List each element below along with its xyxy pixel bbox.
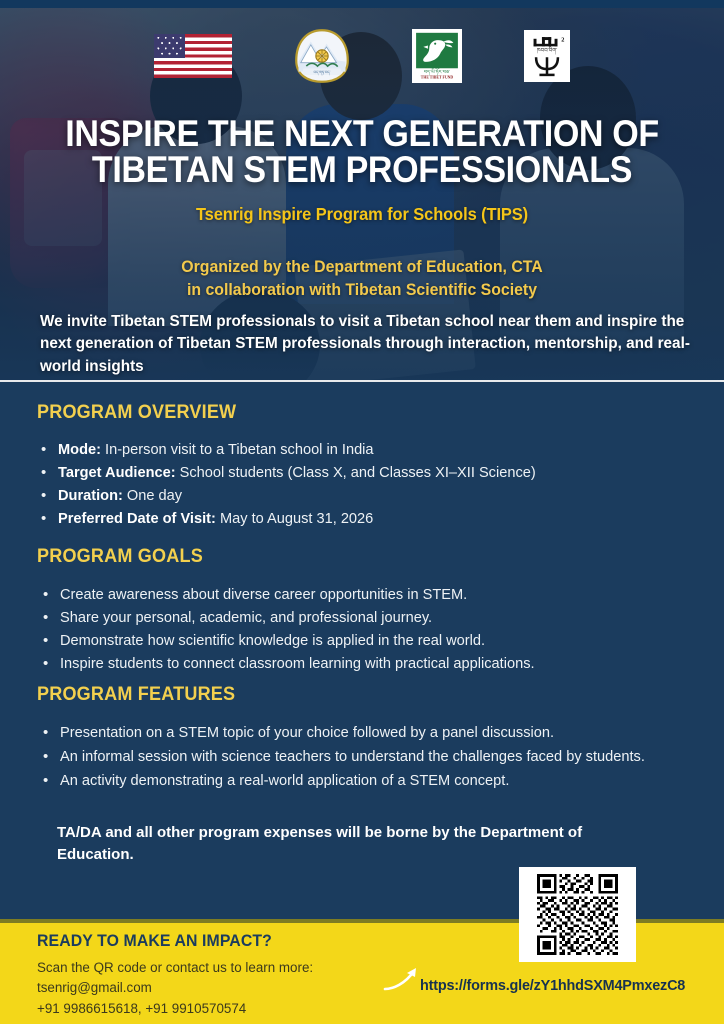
program-subtitle: Tsenrig Inspire Program for Schools (TIP…	[22, 204, 703, 225]
overview-list: Mode: In-person visit to a Tibetan schoo…	[37, 440, 697, 531]
body-section: PROGRAM OVERVIEW Mode: In-person visit t…	[0, 382, 724, 922]
arrow-icon	[383, 962, 423, 992]
contact-email[interactable]: tsenrig@gmail.com	[37, 978, 313, 998]
poster-root: བད་གཏ་བད་ བད་ཡི་ཏོར་བཅ་ THE TIBET FUND	[0, 0, 724, 1024]
list-item: An activity demonstrating a real-world a…	[37, 771, 697, 793]
list-item: Share your personal, academic, and profe…	[37, 608, 697, 630]
qr-code[interactable]	[519, 867, 636, 962]
cta-emblem-logo: བད་གཏ་བད་	[294, 28, 350, 84]
list-item: Target Audience: School students (Class …	[37, 463, 697, 485]
headline-line-2: TIBETAN STEM PROFESSIONALS	[29, 152, 695, 188]
overview-item-label: Preferred Date of Visit:	[58, 511, 216, 527]
contact-phones: +91 9986615618, +91 9910570574	[37, 999, 313, 1019]
organizer-block: Organized by the Department of Education…	[14, 256, 709, 303]
expenses-note: TA/DA and all other program expenses wil…	[57, 822, 657, 866]
overview-item-text: May to August 31, 2026	[216, 511, 373, 527]
list-item: Mode: In-person visit to a Tibetan schoo…	[37, 440, 697, 462]
list-item: Demonstrate how scientific knowledge is …	[37, 631, 697, 653]
overview-item-text: One day	[123, 488, 182, 504]
organizer-line-1: Organized by the Department of Education…	[14, 256, 709, 279]
features-list: Presentation on a STEM topic of your cho…	[37, 723, 697, 793]
footer-contact-block: Scan the QR code or contact us to learn …	[37, 958, 313, 1019]
goals-heading: PROGRAM GOALS	[37, 546, 664, 568]
hero-section: བད་གཏ་བད་ བད་ཡི་ཏོར་བཅ་ THE TIBET FUND	[0, 8, 724, 380]
hero-divider	[0, 380, 724, 382]
program-goals-block: PROGRAM GOALS Create awareness about div…	[37, 546, 697, 677]
list-item: An informal session with science teacher…	[37, 747, 697, 769]
us-flag-logo	[154, 34, 232, 78]
footer-heading: READY TO MAKE AN IMPACT?	[37, 932, 272, 951]
list-item: Preferred Date of Visit: May to August 3…	[37, 509, 697, 531]
qr-code-image	[526, 874, 629, 955]
tibet-fund-logo: བད་ཡི་ཏོར་བཅ་ THE TIBET FUND	[412, 29, 462, 83]
list-item: Create awareness about diverse career op…	[37, 585, 697, 607]
invitation-text: We invite Tibetan STEM professionals to …	[40, 311, 690, 378]
features-heading: PROGRAM FEATURES	[37, 684, 664, 706]
footer-instruction: Scan the QR code or contact us to learn …	[37, 958, 313, 978]
program-overview-block: PROGRAM OVERVIEW Mode: In-person visit t…	[37, 402, 697, 532]
top-accent-bar	[0, 0, 724, 8]
overview-item-text: In-person visit to a Tibetan school in I…	[101, 442, 374, 458]
partner-logo-row: བད་གཏ་བད་ བད་ཡི་ཏོར་བཅ་ THE TIBET FUND	[0, 28, 724, 84]
organizer-line-2: in collaboration with Tibetan Scientific…	[14, 279, 709, 302]
tibetan-scientific-society-logo: 2 ཁབབ་བིག་	[524, 30, 570, 82]
svg-text:THE TIBET FUND: THE TIBET FUND	[421, 76, 454, 80]
list-item: Duration: One day	[37, 486, 697, 508]
program-features-block: PROGRAM FEATURES Presentation on a STEM …	[37, 684, 697, 795]
svg-text:2: 2	[561, 36, 564, 43]
headline-line-1: INSPIRE THE NEXT GENERATION OF	[29, 116, 695, 152]
overview-item-text: School students (Class X, and Classes XI…	[176, 465, 536, 481]
overview-heading: PROGRAM OVERVIEW	[37, 402, 664, 424]
page-title: INSPIRE THE NEXT GENERATION OF TIBETAN S…	[29, 116, 695, 189]
registration-url[interactable]: https://forms.gle/zY1hhdSXM4PmxezC8	[420, 977, 685, 994]
overview-item-label: Target Audience:	[58, 465, 176, 481]
list-item: Inspire students to connect classroom le…	[37, 654, 697, 676]
goals-list: Create awareness about diverse career op…	[37, 585, 697, 676]
list-item: Presentation on a STEM topic of your cho…	[37, 723, 697, 745]
overview-item-label: Duration:	[58, 488, 123, 504]
overview-item-label: Mode:	[58, 442, 101, 458]
